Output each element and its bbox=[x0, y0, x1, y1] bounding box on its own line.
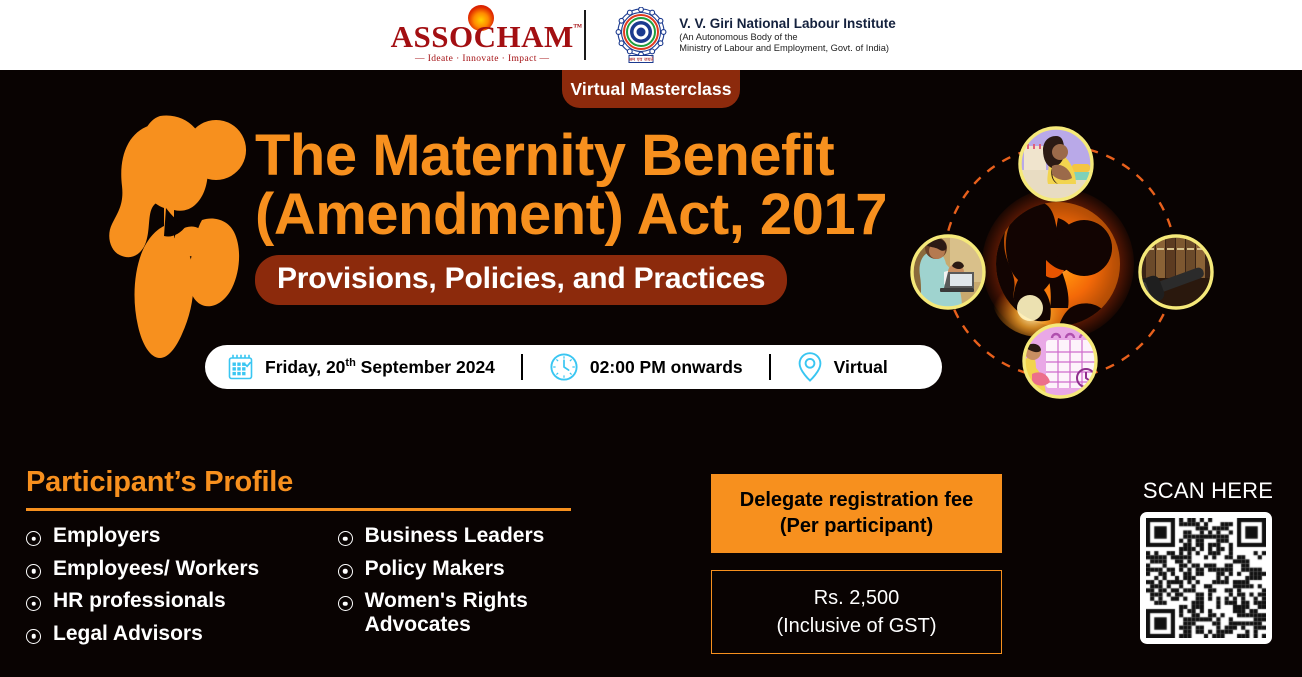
qr-code-icon[interactable] bbox=[1140, 512, 1272, 644]
list-item-label: Business Leaders bbox=[365, 524, 545, 548]
mother-and-child-silhouette-icon bbox=[104, 112, 264, 360]
event-time-label: 02:00 PM onwards bbox=[590, 357, 743, 378]
pregnant-woman-illustration-icon bbox=[1020, 128, 1092, 200]
vvgnli-text-block: V. V. Giri National Labour Institute (An… bbox=[679, 16, 896, 54]
qr-code-canvas[interactable] bbox=[1146, 518, 1266, 638]
list-item-label: Employees/ Workers bbox=[53, 557, 259, 581]
list-item: Business Leaders bbox=[338, 524, 574, 548]
list-item-label: Employers bbox=[53, 524, 160, 548]
bullet-icon bbox=[26, 564, 41, 579]
list-item: Employers bbox=[26, 524, 322, 548]
page-title-line-1: The Maternity Benefit bbox=[255, 128, 895, 185]
vvgnli-emblem-icon: श्रम एव जयते bbox=[612, 7, 670, 63]
list-item: Legal Advisors bbox=[26, 622, 322, 646]
event-date-ordinal: th bbox=[345, 357, 355, 369]
virtual-masterclass-badge: Virtual Masterclass bbox=[562, 70, 740, 108]
event-date-item: Friday, 20th September 2024 bbox=[227, 353, 495, 381]
header-logo-band: ASSOCHAM ™ — Ideate · Innovate · Impact … bbox=[0, 0, 1302, 70]
hero-subtitle-pill: Provisions, Policies, and Practices bbox=[255, 255, 787, 305]
vvgnli-subtitle-line-2: Ministry of Labour and Employment, Govt.… bbox=[679, 43, 896, 54]
event-date-label: Friday, 20th September 2024 bbox=[265, 357, 495, 378]
event-info-bar: Friday, 20th September 2024 02:00 PM onw… bbox=[205, 345, 942, 389]
participants-profile-heading: Participant’s Profile bbox=[26, 466, 574, 499]
svg-text:श्रम एव जयते: श्रम एव जयते bbox=[629, 56, 654, 63]
bullet-icon bbox=[26, 596, 41, 611]
hero-title-block: The Maternity Benefit (Amendment) Act, 2… bbox=[255, 128, 895, 305]
vvgnli-logo-block: श्रम एव जयते V. V. Giri National Labour … bbox=[612, 7, 896, 63]
location-pin-icon bbox=[797, 351, 823, 383]
scan-here-label: SCAN HERE bbox=[1140, 478, 1276, 504]
list-item: HR professionals bbox=[26, 589, 322, 613]
clock-icon bbox=[549, 352, 579, 382]
list-item-label: Women's Rights Advocates bbox=[365, 589, 574, 636]
assocham-tagline: — Ideate · Innovate · Impact — bbox=[415, 54, 549, 64]
trademark-symbol: ™ bbox=[573, 23, 583, 32]
list-item: Women's Rights Advocates bbox=[338, 589, 574, 636]
bullet-icon bbox=[26, 531, 41, 546]
maternity-calendar-illustration-icon bbox=[1023, 325, 1096, 398]
fee-amount-box: Rs. 2,500 (Inclusive of GST) bbox=[711, 570, 1002, 654]
event-venue-label: Virtual bbox=[834, 357, 888, 378]
bullet-icon bbox=[338, 596, 353, 611]
fee-header-line-2: (Per participant) bbox=[780, 514, 933, 540]
assocham-wordmark: ASSOCHAM ™ bbox=[391, 21, 574, 52]
list-item: Policy Makers bbox=[338, 557, 574, 581]
assocham-logo: ASSOCHAM ™ — Ideate · Innovate · Impact … bbox=[406, 4, 558, 66]
event-venue-item: Virtual bbox=[797, 351, 888, 383]
page-title-line-2: (Amendment) Act, 2017 bbox=[255, 187, 895, 244]
fee-header-line-1: Delegate registration fee bbox=[740, 488, 973, 514]
participants-profile-section: Participant’s Profile Employers Employee… bbox=[26, 466, 574, 654]
fee-header-box: Delegate registration fee (Per participa… bbox=[711, 474, 1002, 553]
info-separator-1 bbox=[521, 354, 523, 380]
profile-column-2: Business Leaders Policy Makers Women's R… bbox=[338, 524, 574, 654]
info-separator-2 bbox=[769, 354, 771, 380]
mother-with-baby-at-laptop-icon bbox=[912, 236, 984, 308]
event-poster: ASSOCHAM ™ — Ideate · Innovate · Impact … bbox=[0, 0, 1302, 677]
list-item-label: HR professionals bbox=[53, 589, 226, 613]
fee-amount: Rs. 2,500 bbox=[814, 584, 900, 612]
image-collage bbox=[900, 112, 1220, 404]
profile-divider bbox=[26, 508, 571, 511]
event-time-item: 02:00 PM onwards bbox=[549, 352, 743, 382]
bullet-icon bbox=[338, 564, 353, 579]
calendar-icon bbox=[227, 353, 254, 381]
vvgnli-subtitle-line-1: (An Autonomous Body of the bbox=[679, 32, 896, 43]
assocham-name: ASSOCHAM bbox=[391, 19, 574, 54]
assocham-logo-block: ASSOCHAM ™ — Ideate · Innovate · Impact … bbox=[406, 4, 558, 66]
vvgnli-title: V. V. Giri National Labour Institute bbox=[679, 16, 896, 32]
profile-column-1: Employers Employees/ Workers HR professi… bbox=[26, 524, 322, 654]
bullet-icon bbox=[338, 531, 353, 546]
event-date-prefix: Friday, 20 bbox=[265, 357, 345, 377]
scan-here-section: SCAN HERE bbox=[1140, 478, 1276, 644]
list-item-label: Policy Makers bbox=[365, 557, 505, 581]
profile-columns: Employers Employees/ Workers HR professi… bbox=[26, 524, 574, 654]
vertical-divider-icon bbox=[584, 10, 586, 60]
gavel-and-law-books-icon bbox=[1137, 236, 1212, 308]
list-item-label: Legal Advisors bbox=[53, 622, 203, 646]
registration-fee-section: Delegate registration fee (Per participa… bbox=[711, 474, 1002, 654]
list-item: Employees/ Workers bbox=[26, 557, 322, 581]
bullet-icon bbox=[26, 629, 41, 644]
fee-amount-note: (Inclusive of GST) bbox=[776, 612, 936, 640]
event-date-suffix: September 2024 bbox=[356, 357, 495, 377]
